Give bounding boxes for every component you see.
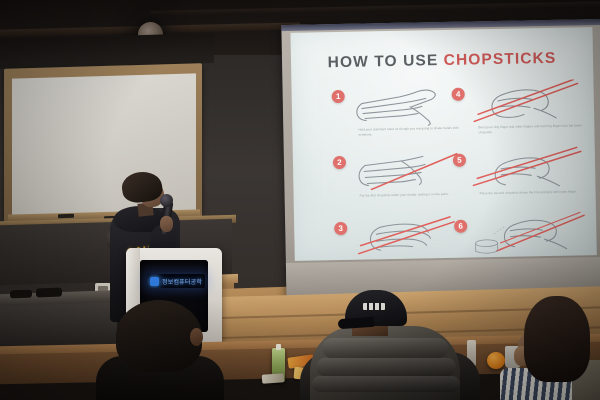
presenter-hand [160,216,173,232]
audience-ear [190,328,203,346]
step-caption: Bend your ring finger and other fingers … [478,123,582,135]
step-number-badge: 6 [454,220,467,233]
desk-object [10,290,32,299]
puffer-seam [316,358,456,376]
step-number-badge: 5 [453,154,466,167]
hand-illustration-4 [467,79,588,125]
hand-illustration-5 [469,145,590,191]
audience-long-hair [524,296,590,382]
step-caption: Hold your dominant hand as though you ar… [358,126,462,138]
podium-display-text: 정보컴퓨터공학 [162,277,202,286]
step-number-badge: 4 [452,88,465,101]
cap-logo-icon [363,303,385,310]
lecture-hall-photo: HOW TO USE CHOPSTICKS 1 Hold your domina… [0,0,600,400]
carton-cap-icon [276,344,281,350]
microphone-head-icon [160,194,173,207]
hand-illustration-3 [350,214,471,260]
slide-title-accent: CHOPSTICKS [444,50,557,69]
hand-illustration-6 [470,211,591,257]
projected-slide: HOW TO USE CHOPSTICKS 1 Hold your domina… [290,27,596,261]
puffer-seam [322,338,448,358]
step-caption: Place the second chopstick above the fir… [480,189,584,196]
step-number-badge: 3 [334,222,347,235]
desk-object [36,288,62,298]
slide-step-4: 4 Bend your ring finger and other finger… [451,79,592,144]
step-number-badge: 2 [333,156,346,169]
projection-screen: HOW TO USE CHOPSTICKS 1 Hold your domina… [281,19,600,307]
puffer-seam [312,376,460,392]
orange-fruit [487,352,505,369]
step-number-badge: 1 [332,90,345,103]
hand-illustration-2 [349,148,470,194]
slide-step-5: 5 Place the second chopstick above the f… [453,145,594,210]
snack-package [262,373,285,384]
podium-display[interactable]: 정보컴퓨터공학 [147,274,205,288]
podium-logo-icon [150,277,159,286]
step-caption: Put the first chopstick under your thumb… [360,192,464,199]
marker-icon [58,214,74,218]
slide-step-6: 6 Move your index and middle fingers up … [454,211,595,261]
hand-illustration-1 [347,82,468,128]
slide-title-main: HOW TO USE [328,52,444,71]
